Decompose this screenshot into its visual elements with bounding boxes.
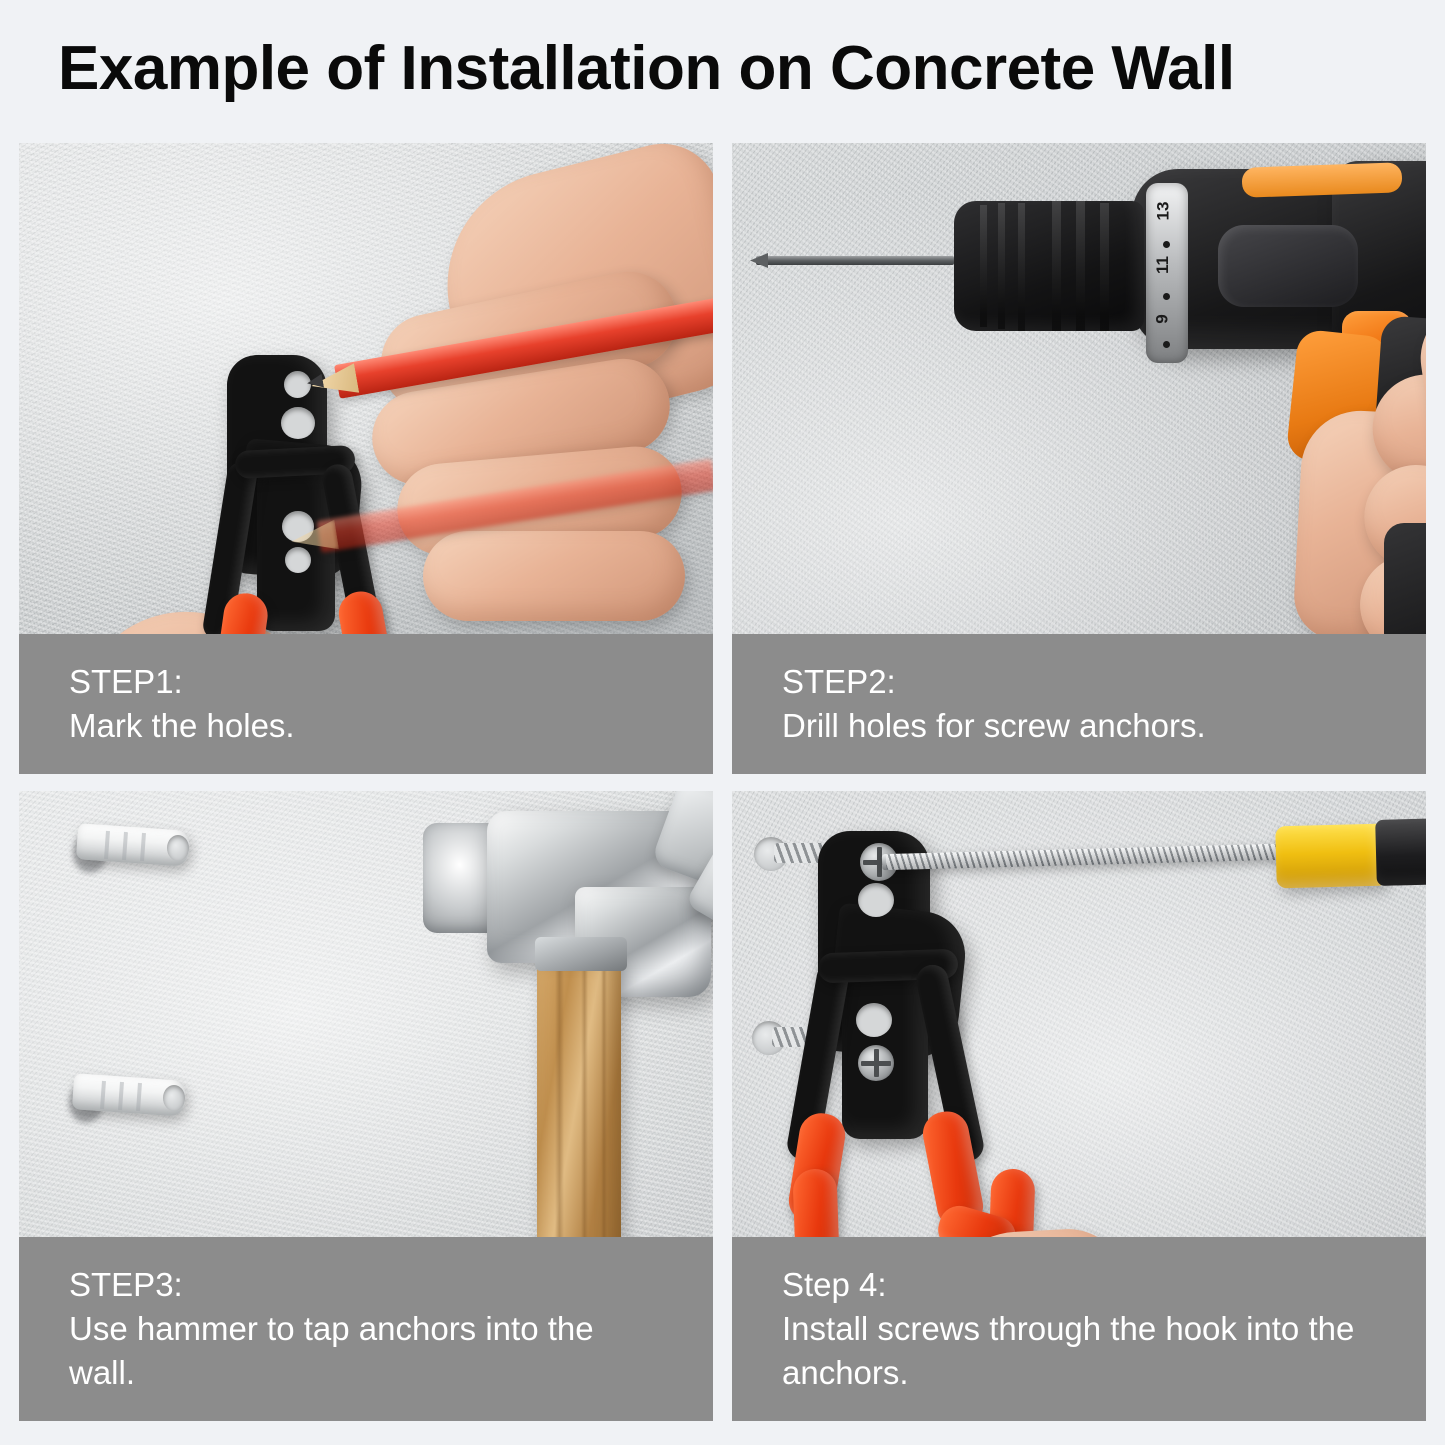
- step-4-label: Step 4:: [782, 1263, 1378, 1307]
- screwdriver-black-handle: [1375, 818, 1426, 886]
- clutch-number-9: 9: [1153, 314, 1173, 323]
- screw-slot-lower-h: [861, 1061, 891, 1066]
- step-3-caption: STEP3: Use hammer to tap anchors into th…: [19, 1237, 713, 1421]
- chuck-rib-3: [1018, 203, 1025, 331]
- screwdriver-yellow-handle: [1275, 823, 1385, 888]
- anchor-upper-bore: [167, 835, 189, 861]
- step-2-label: STEP2:: [782, 660, 1378, 704]
- steps-grid: STEP1: Mark the holes. 13: [19, 143, 1426, 1421]
- step-1-text: Mark the holes.: [69, 704, 665, 748]
- clutch-dot-2: [1163, 293, 1170, 300]
- mount-hole-4-2: [858, 883, 894, 917]
- drill-top-orange-strip: [1242, 162, 1403, 198]
- step-panel-3[interactable]: STEP3: Use hammer to tap anchors into th…: [19, 791, 713, 1422]
- mount-hole-4: [285, 547, 311, 573]
- hammer-head-wedge: [535, 937, 627, 971]
- installation-guide-page: Example of Installation on Concrete Wall: [0, 0, 1445, 1445]
- step-1-label: STEP1:: [69, 660, 665, 704]
- anchor-lower-bore: [163, 1085, 185, 1111]
- step-2-caption: STEP2: Drill holes for screw anchors.: [732, 634, 1426, 774]
- step-panel-1[interactable]: STEP1: Mark the holes.: [19, 143, 713, 774]
- step-panel-2[interactable]: 13 11 9 STEP2: Drill holes for screw anc…: [732, 143, 1426, 774]
- finger-4: [423, 531, 685, 621]
- chuck-rib-5: [1076, 201, 1085, 331]
- page-title: Example of Installation on Concrete Wall: [58, 33, 1235, 104]
- clutch-number-13: 13: [1153, 202, 1173, 221]
- chuck-rib-4: [1052, 201, 1061, 331]
- step-3-label: STEP3:: [69, 1263, 665, 1307]
- masonry-drill-bit: [756, 256, 954, 265]
- clutch-dot-3: [1163, 341, 1170, 348]
- step-4-text: Install screws through the hook into the…: [782, 1307, 1378, 1395]
- chuck-rib-6: [1100, 203, 1109, 331]
- clutch-dot-1: [1163, 241, 1170, 248]
- chuck-rib-1: [980, 205, 987, 327]
- mount-hole-1: [284, 371, 311, 398]
- step-1-caption: STEP1: Mark the holes.: [19, 634, 713, 774]
- chuck-rib-2: [998, 203, 1005, 329]
- clutch-number-11: 11: [1153, 256, 1173, 274]
- mount-hole-4-3: [856, 1003, 892, 1037]
- step-panel-4[interactable]: Step 4: Install screws through the hook …: [732, 791, 1426, 1422]
- drill-side-panel: [1218, 225, 1358, 307]
- step-4-caption: Step 4: Install screws through the hook …: [732, 1237, 1426, 1421]
- step-3-text: Use hammer to tap anchors into the wall.: [69, 1307, 665, 1395]
- step-2-text: Drill holes for screw anchors.: [782, 704, 1378, 748]
- mount-hole-2: [281, 407, 315, 439]
